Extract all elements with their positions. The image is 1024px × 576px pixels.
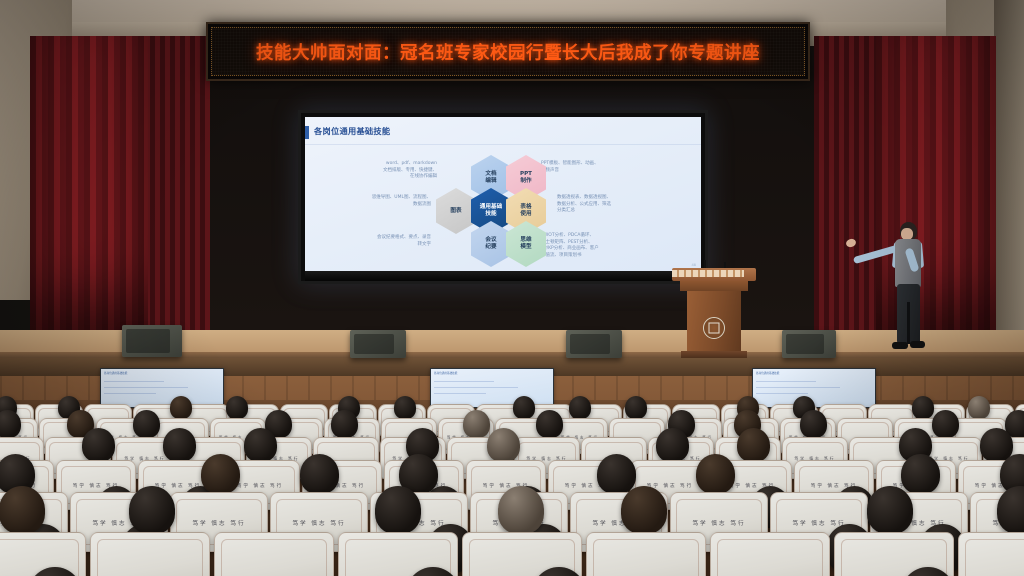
audience-head [375,486,422,534]
speaker-person [886,222,930,362]
led-banner-text: 技能大帅面对面：冠名班专家校园行暨长大后我成了你专题讲座 [212,39,804,64]
audience-head [82,428,115,462]
audience-chair [958,532,1024,576]
audience-head [912,396,935,419]
curtain-inner-left [140,36,210,356]
podium [678,268,750,358]
audience-head [394,396,417,419]
audience-head [901,454,940,494]
note-chart: 思维导图、UML图、流程图、数据流图 [327,195,431,208]
audience-chair [710,532,830,576]
stage-monitor-speaker-1 [122,325,182,357]
audience-head [0,410,21,438]
audience-head [300,454,339,494]
audience-head [244,428,277,462]
audience-head [129,486,176,534]
audience-chair [214,532,334,576]
audience-head [133,410,160,438]
chair-motto: 笃学 慎志 笃行 [171,519,267,527]
note-doc: word、pdf、markdown文档排版、专用、快捷键、在线协作编辑 [345,161,437,181]
audience-head [569,396,592,419]
screen-lower-bezel [305,271,701,281]
podium-emblem-icon [703,317,725,339]
hex-meet: 会议纪要 [471,221,511,267]
audience-head [968,396,991,419]
audience-head [226,396,249,419]
audience-head [737,428,770,462]
projection-screen: 各岗位通用基础技能 word、pdf、markdown文档排版、专用、快捷键、在… [298,110,708,284]
aux-monitor-caption-2: 各岗位通用基础技能 [434,371,457,375]
slide-title: 各岗位通用基础技能 [314,125,390,137]
speaker-shoe-left [892,342,908,349]
aux-monitor-caption-3: 各岗位通用基础技能 [756,371,779,375]
audience-chair [90,532,210,576]
stage-monitor-speaker-3 [566,330,622,358]
chair-motto: 笃学 慎志 笃行 [271,519,367,527]
audience-head [621,486,668,534]
audience-chair [586,532,706,576]
audience-head [331,410,358,438]
led-banner-surface: 技能大帅面对面：冠名班专家校园行暨长大后我成了你专题讲座 [211,27,805,76]
audience-head [625,396,648,419]
stage-monitor-speaker-2 [350,330,406,358]
audience-head [597,454,636,494]
audience-head [867,486,914,534]
chair-seam [97,539,203,576]
audience-head [463,410,490,438]
auditorium-scene: 技能大帅面对面：冠名班专家校园行暨长大后我成了你专题讲座 各岗位通用基础技能 w… [0,0,1024,576]
audience-head [513,396,536,419]
audience-head [498,486,545,534]
audience-head [0,486,45,534]
audience-head [170,396,193,419]
audience-head [201,454,240,494]
chair-seam [965,539,1024,576]
aux-monitor-1: 各岗位通用基础技能 [100,368,224,408]
podium-base [681,351,747,358]
podium-top [672,268,756,281]
hexagon-cluster: 文档编辑 PPT制作 图表 通用基础技能 表格使用 会议纪要 思维模型 [433,155,583,267]
note-meet: 会议纪要格式、要点、录音转文字 [323,235,431,248]
audience-head [696,454,735,494]
podium-light-strip [672,270,744,277]
stage-monitor-speaker-4 [782,330,836,358]
speaker-leg-split [907,302,910,344]
chair-seam [221,539,327,576]
slide-page-badge: 46 [692,262,696,267]
audience-head [932,410,959,438]
slide-title-rule [305,144,701,145]
audience-head [163,428,196,462]
speaker-shoe-right [910,341,925,348]
podium-body [687,291,741,351]
chair-seam [593,539,699,576]
audience-head [800,410,827,438]
aux-monitor-caption-1: 各岗位通用基础技能 [104,371,127,375]
aux-monitor-2: 各岗位通用基础技能 [430,368,554,408]
led-banner: 技能大帅面对面：冠名班专家校园行暨长大后我成了你专题讲座 [206,22,810,81]
podium-apron [680,281,748,291]
audience-head [536,410,563,438]
slide-content: 各岗位通用基础技能 word、pdf、markdown文档排版、专用、快捷键、在… [305,117,701,271]
slide-title-accent-bar [305,126,309,139]
curtain-left [30,36,148,336]
chair-seam [717,539,823,576]
hex-chart: 图表 [436,188,476,234]
hex-mind: 思维模型 [506,221,546,267]
chair-motto: 笃学 慎志 笃行 [671,519,767,527]
audience-head [656,428,689,462]
audience-head [487,428,520,462]
